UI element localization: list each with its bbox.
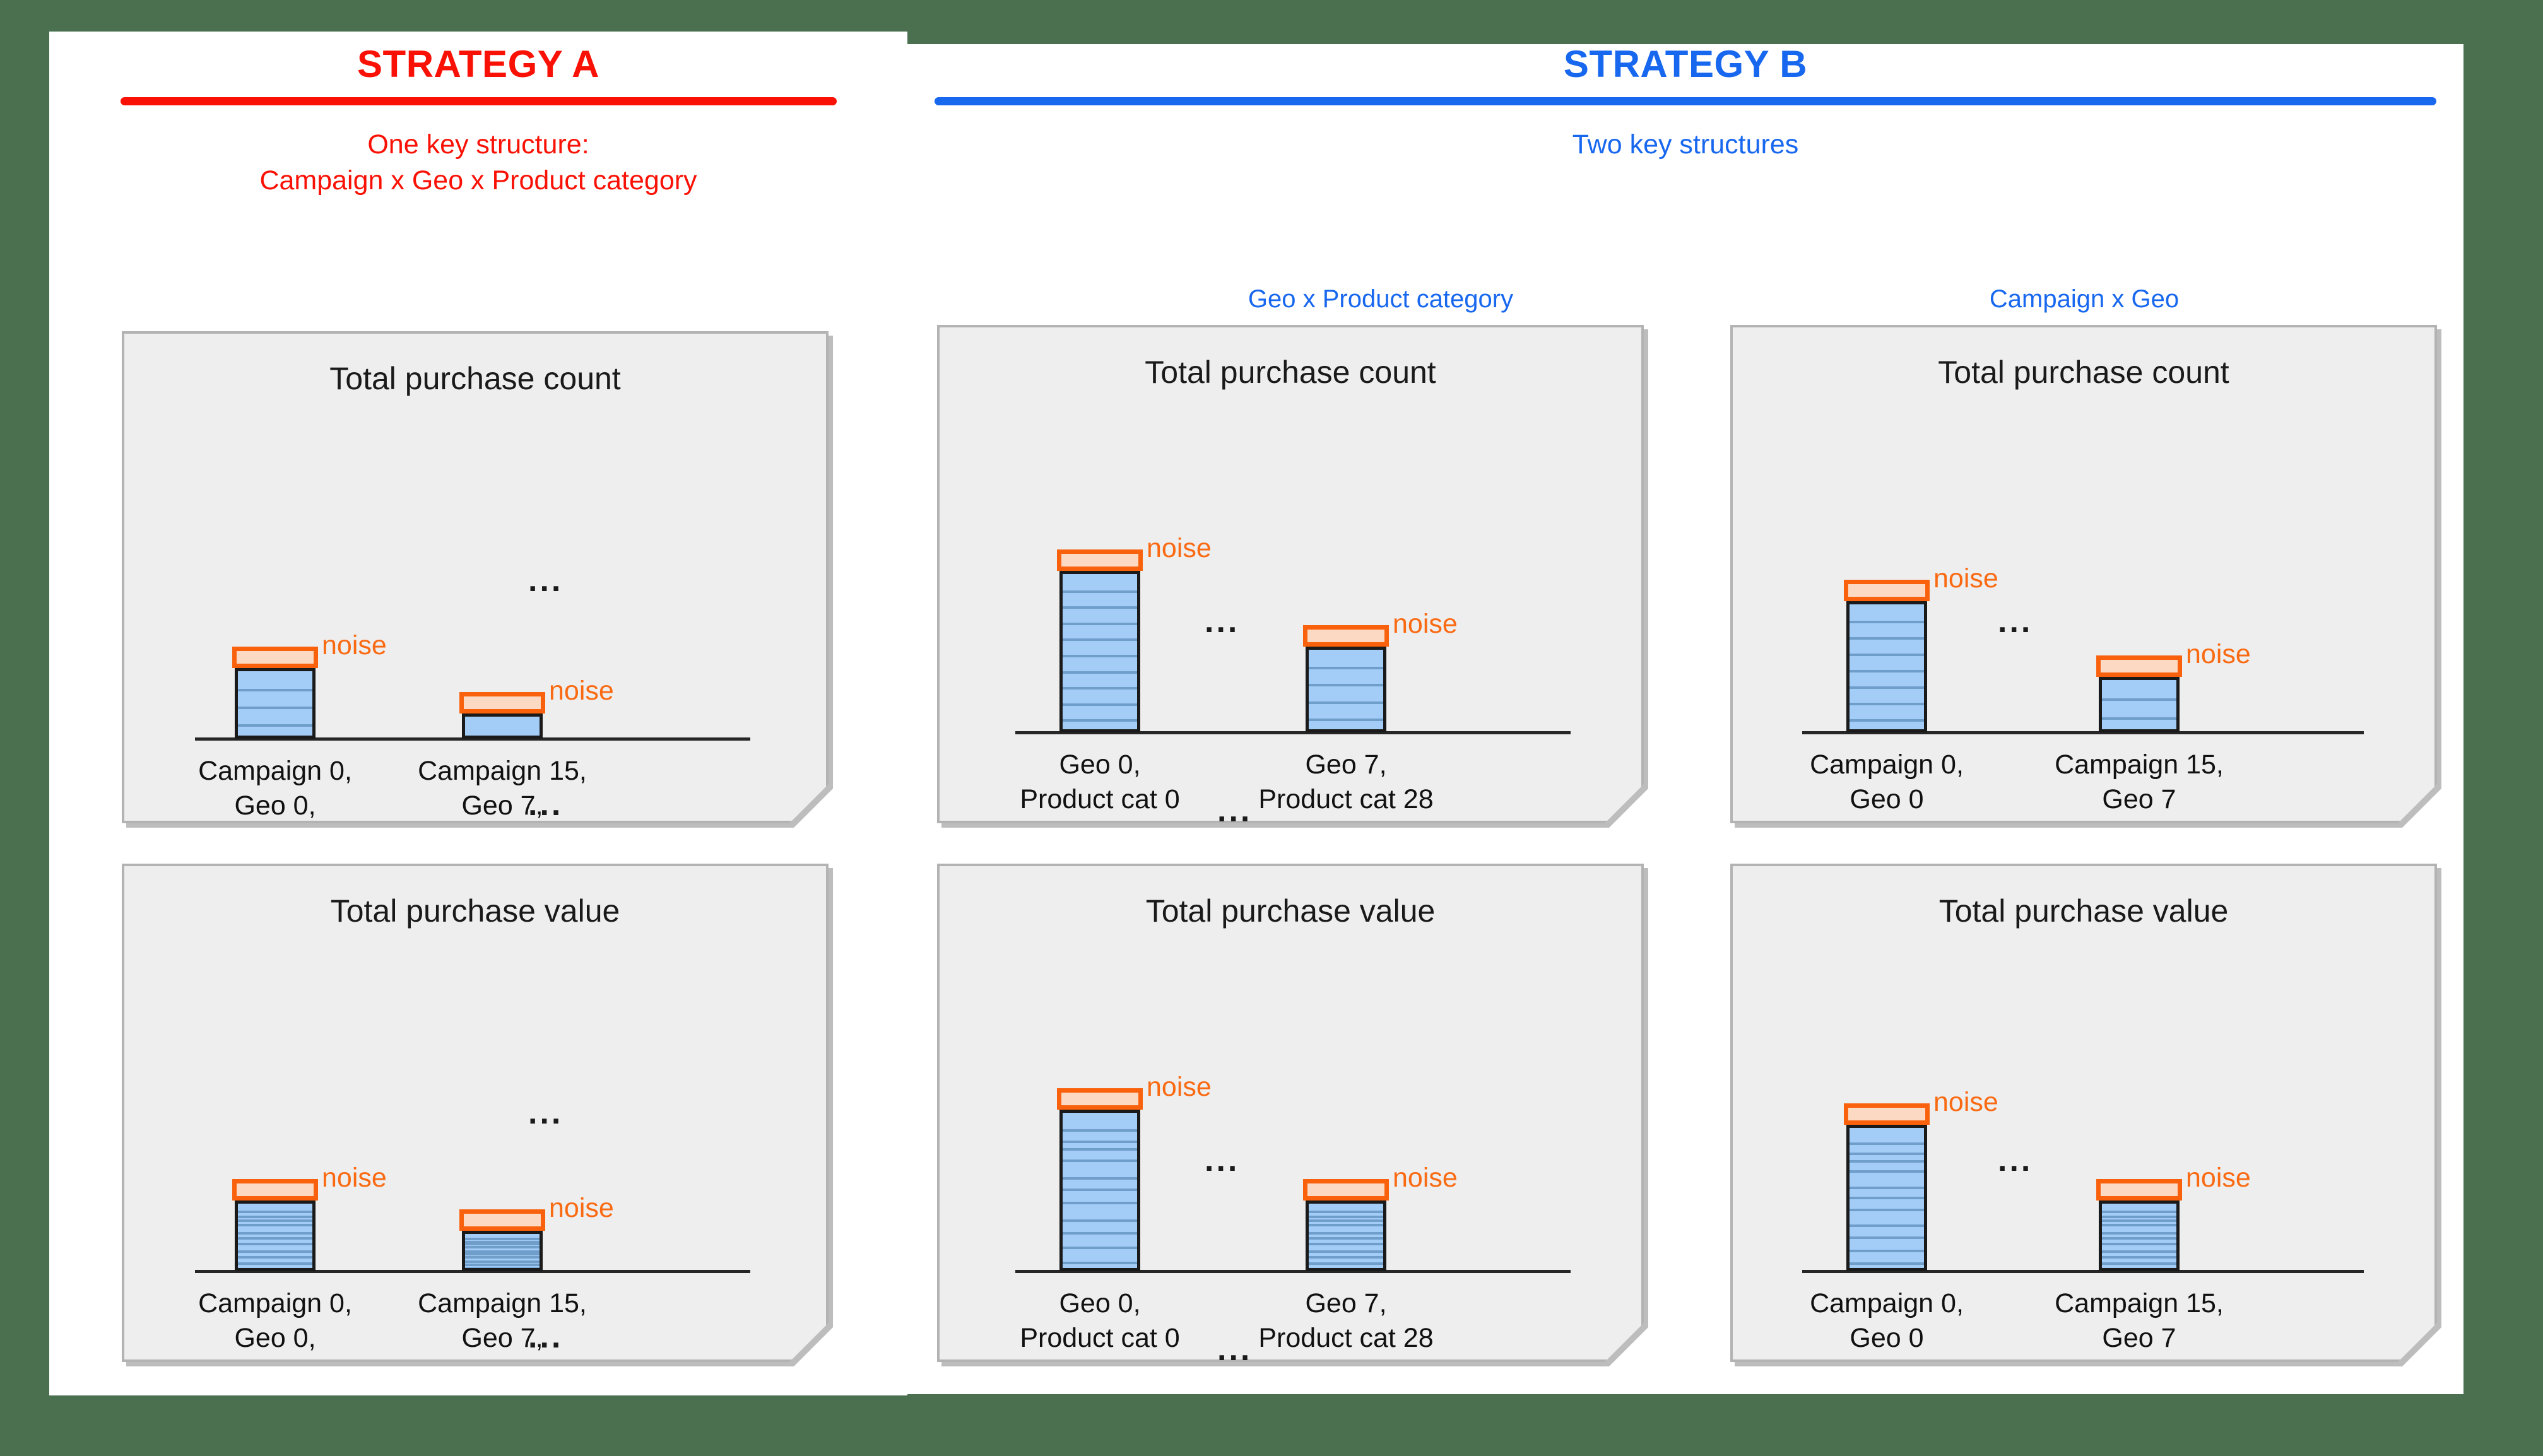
chart-bar-segment-divider: [1063, 719, 1137, 722]
chart-bar-segment-divider: [1309, 1219, 1383, 1222]
chart-ellipsis-plot: ...: [1205, 1144, 1239, 1177]
noise-label: noise: [549, 676, 614, 707]
strategy-b-subtitle: Two key structures: [907, 127, 2463, 163]
chart-bar-segment-divider: [1063, 1262, 1137, 1264]
chart-bar-segment-divider: [1063, 623, 1137, 625]
noise-label: noise: [1933, 563, 1998, 594]
panel-title: Total purchase count: [940, 354, 1641, 390]
chart-ellipsis-plot: ...: [528, 564, 563, 597]
chart-bar-segment-divider: [1309, 1243, 1383, 1245]
chart-bar-segment-divider: [1309, 1224, 1383, 1226]
chart-bar-segment-divider: [2102, 1237, 2176, 1240]
chart-x-label-line: Campaign 15,: [313, 1286, 692, 1321]
chart-noise-band: [2096, 1179, 2182, 1201]
chart-bar: [1306, 1201, 1386, 1271]
chart-bar-segment-divider: [1063, 606, 1137, 609]
chart-ellipsis-plot: ...: [1998, 1144, 2033, 1177]
chart-bar-segment-divider: [238, 707, 312, 709]
chart-bar-segment-divider: [238, 1256, 312, 1259]
chart-bar-segment-divider: [465, 1264, 540, 1266]
chart-bar-segment-divider: [1063, 1202, 1137, 1204]
chart-bar-segment-divider: [1850, 719, 1924, 722]
chart-bar: [235, 668, 316, 739]
strategy-a-column: STRATEGY A One key structure: Campaign x…: [49, 32, 907, 199]
chart-bar-segment-divider: [465, 1238, 540, 1240]
strategy-a-subtitle-line2: Campaign x Geo x Product category: [49, 163, 907, 199]
chart-bar-segment-divider: [2102, 1216, 2176, 1218]
chart-bar-segment-divider: [2102, 1256, 2176, 1259]
chart-noise-band: [1844, 1103, 1930, 1125]
chart-bar-segment-divider: [238, 1269, 312, 1271]
panel-strategy-a-purchase-value: Total purchase value noiseCampaign 0,Geo…: [122, 864, 829, 1362]
substructure-label-campaign-geo: Campaign x Geo: [1721, 285, 2447, 314]
strategy-b-rule: [935, 97, 2436, 105]
chart-bar-segment-divider: [2102, 1250, 2176, 1253]
noise-label: noise: [2186, 1163, 2251, 1194]
noise-label: noise: [1933, 1087, 1998, 1118]
chart-bar-segment-divider: [1309, 1269, 1383, 1271]
chart-x-label-line: Campaign 15,: [313, 754, 692, 789]
panel-strategy-b-campaign-geo-purchase-value: Total purchase value noiseCampaign 0,Geo…: [1730, 864, 2437, 1362]
chart-noise-band: [1303, 1179, 1389, 1201]
panel-title: Total purchase count: [124, 360, 826, 397]
chart-x-label-line: Campaign 15,: [1950, 748, 2328, 782]
chart-x-label: Geo 7,Product cat 28: [1157, 1286, 1535, 1356]
chart-noise-band: [1057, 1088, 1143, 1110]
chart-bar-segment-divider: [1063, 703, 1137, 706]
chart-bar-segment-divider: [2102, 1262, 2176, 1265]
noise-label: noise: [1393, 1163, 1458, 1194]
noise-label: noise: [322, 1163, 387, 1194]
chart-noise-band: [1844, 580, 1930, 601]
chart-ellipsis-plot: ...: [1205, 605, 1239, 638]
chart-bar-segment-divider: [1850, 670, 1924, 672]
chart-bar-segment-divider: [238, 724, 312, 727]
chart-bar-segment-divider: [238, 1211, 312, 1213]
chart-bar-segment-divider: [1309, 1256, 1383, 1259]
chart-bar-segment-divider: [238, 1250, 312, 1253]
chart-bar-segment-divider: [2102, 698, 2176, 701]
chart-x-label-line: Campaign 15,: [1950, 1286, 2328, 1321]
chart-bar: [1059, 571, 1140, 732]
noise-label: noise: [1147, 533, 1212, 564]
chart-x-label-line: Geo 7,: [313, 789, 692, 823]
chart-bar-segment-divider: [1309, 1262, 1383, 1265]
chart-bar-segment-divider: [1063, 655, 1137, 657]
chart-bar-segment-divider: [1850, 1250, 1924, 1252]
chart-bar-segment-divider: [2102, 717, 2176, 720]
chart-ellipsis-plot: ...: [528, 1096, 563, 1129]
noise-label: noise: [2186, 639, 2251, 670]
chart-bar-segment-divider: [1309, 1237, 1383, 1240]
chart-bar-segment-divider: [2102, 1243, 2176, 1245]
chart-bar-segment-divider: [465, 1246, 540, 1248]
chart-ellipsis-labels: ...: [528, 1320, 563, 1353]
chart-bar-segment-divider: [2102, 1219, 2176, 1222]
chart-bar-segment-divider: [1063, 687, 1137, 690]
chart-bar-segment-divider: [238, 1243, 312, 1245]
chart-bar-segment-divider: [1850, 1170, 1924, 1173]
chart-bar-segment-divider: [1063, 1160, 1137, 1162]
chart-bar-segment-divider: [465, 1267, 540, 1270]
chart-noise-band: [232, 1179, 318, 1201]
chart-bar-segment-divider: [1063, 1141, 1137, 1143]
chart-bar: [2099, 677, 2180, 732]
chart-bar-segment-divider: [238, 1232, 312, 1235]
chart-bar-segment-divider: [1063, 1148, 1137, 1151]
chart-bar-segment-divider: [1850, 621, 1924, 623]
chart-bar-segment-divider: [238, 1216, 312, 1218]
chart-bar-segment-divider: [1309, 1216, 1383, 1218]
panel-strategy-b-geo-product-purchase-count: Total purchase count noiseGeo 0,Product …: [937, 325, 1644, 823]
chart-bar-segment-divider: [1850, 1153, 1924, 1155]
strategy-a-rule: [121, 97, 837, 105]
noise-label: noise: [549, 1193, 614, 1224]
chart-x-label-line: Geo 7,: [1157, 1286, 1535, 1321]
chart-bar: [462, 1231, 543, 1271]
chart-bar-segment-divider: [238, 1224, 312, 1226]
panel-title: Total purchase value: [1733, 893, 2434, 929]
chart-bar-segment-divider: [1850, 637, 1924, 640]
chart-bar-segment-divider: [238, 1262, 312, 1265]
chart-noise-band: [232, 647, 318, 668]
chart-bar-segment-divider: [465, 1253, 540, 1255]
panel-strategy-b-geo-product-purchase-value: Total purchase value noiseGeo 0,Product …: [937, 864, 1644, 1362]
chart-bar-segment-divider: [2102, 1232, 2176, 1235]
chart-bar-segment-divider: [465, 1260, 540, 1263]
chart-bar-segment-divider: [1309, 667, 1383, 669]
chart-bar-segment-divider: [1850, 1160, 1924, 1163]
chart-bar-segment-divider: [1309, 702, 1383, 704]
chart-bar-segment-divider: [465, 1243, 540, 1245]
strategy-a-subtitle: One key structure: Campaign x Geo x Prod…: [49, 127, 907, 199]
chart-bar-segment-divider: [238, 689, 312, 691]
chart-bar-segment-divider: [1063, 1129, 1137, 1132]
chart-bar: [1306, 647, 1386, 732]
chart-bar: [1059, 1110, 1140, 1271]
strategy-a-subtitle-line1: One key structure:: [49, 127, 907, 163]
chart-bar-segment-divider: [1063, 1247, 1137, 1249]
chart-noise-band: [459, 1209, 545, 1231]
chart-ellipsis-labels: ...: [1217, 794, 1252, 827]
chart-bar-segment-divider: [1850, 686, 1924, 689]
chart-bar-segment-divider: [1063, 1232, 1137, 1235]
chart-bar: [235, 1201, 316, 1271]
chart-bar-segment-divider: [1850, 1197, 1924, 1199]
chart-bar-segment-divider: [465, 1256, 540, 1259]
chart-bar-segment-divider: [1309, 684, 1383, 686]
strategy-b-title: STRATEGY B: [907, 45, 2463, 83]
chart-bar-segment-divider: [1309, 1232, 1383, 1235]
chart-bar-segment-divider: [1850, 703, 1924, 705]
chart-noise-band: [1057, 549, 1143, 571]
chart-bar-segment-divider: [1850, 1187, 1924, 1189]
strategy-a-title: STRATEGY A: [49, 45, 907, 83]
chart-bar-segment-divider: [238, 1237, 312, 1240]
chart-bar-segment-divider: [1850, 654, 1924, 656]
chart-ellipsis-labels: ...: [1217, 1333, 1252, 1366]
chart-bar-segment-divider: [1850, 1236, 1924, 1239]
chart-bar-segment-divider: [1063, 638, 1137, 641]
chart-bar: [2099, 1201, 2180, 1271]
panel-title: Total purchase value: [940, 893, 1641, 929]
chart-bar: [462, 713, 543, 739]
chart-bar-segment-divider: [1063, 1189, 1137, 1191]
chart-bar-segment-divider: [1063, 1177, 1137, 1180]
chart-bar-segment-divider: [2102, 1269, 2176, 1271]
chart-bar-segment-divider: [1309, 719, 1383, 721]
noise-label: noise: [1147, 1072, 1212, 1103]
chart-noise-band: [459, 692, 545, 713]
chart-bar-segment-divider: [1063, 1219, 1137, 1222]
panel-title: Total purchase count: [1733, 354, 2434, 390]
chart-bar-segment-divider: [1850, 1224, 1924, 1227]
chart-bar-segment-divider: [1309, 1250, 1383, 1253]
chart-bar-segment-divider: [1850, 1209, 1924, 1211]
chart-bar-segment-divider: [1850, 1142, 1924, 1145]
chart-x-label-line: Product cat 28: [1157, 782, 1535, 817]
strategy-b-column: STRATEGY B Two key structures Geo x Prod…: [907, 44, 2463, 163]
chart-bar-segment-divider: [2102, 1211, 2176, 1213]
chart-noise-band: [1303, 625, 1389, 647]
chart-x-label-line: Product cat 28: [1157, 1321, 1535, 1356]
noise-label: noise: [322, 630, 387, 661]
chart-bar-segment-divider: [1063, 671, 1137, 674]
chart-x-label: Geo 7,Product cat 28: [1157, 748, 1535, 817]
chart-ellipsis-plot: ...: [1998, 605, 2033, 638]
chart-noise-band: [2096, 655, 2182, 677]
substructure-label-geo-product: Geo x Product category: [1018, 285, 1744, 314]
chart-bar-segment-divider: [1063, 590, 1137, 593]
chart-x-label-line: Geo 7,: [313, 1321, 692, 1356]
chart-bar: [1846, 1125, 1927, 1271]
panel-strategy-a-purchase-count: Total purchase count noiseCampaign 0,Geo…: [122, 331, 829, 823]
panel-title: Total purchase value: [124, 893, 826, 929]
noise-label: noise: [1393, 609, 1458, 640]
chart-bar-segment-divider: [238, 1219, 312, 1222]
chart-bar: [1846, 601, 1927, 732]
chart-bar-segment-divider: [2102, 1224, 2176, 1226]
chart-ellipsis-labels: ...: [528, 788, 563, 821]
chart-bar-segment-divider: [1309, 1211, 1383, 1213]
chart-x-label-line: Geo 7,: [1157, 748, 1535, 782]
panel-strategy-b-campaign-geo-purchase-count: Total purchase count noiseCampaign 0,Geo…: [1730, 325, 2437, 823]
chart-bar-segment-divider: [1850, 1262, 1924, 1265]
